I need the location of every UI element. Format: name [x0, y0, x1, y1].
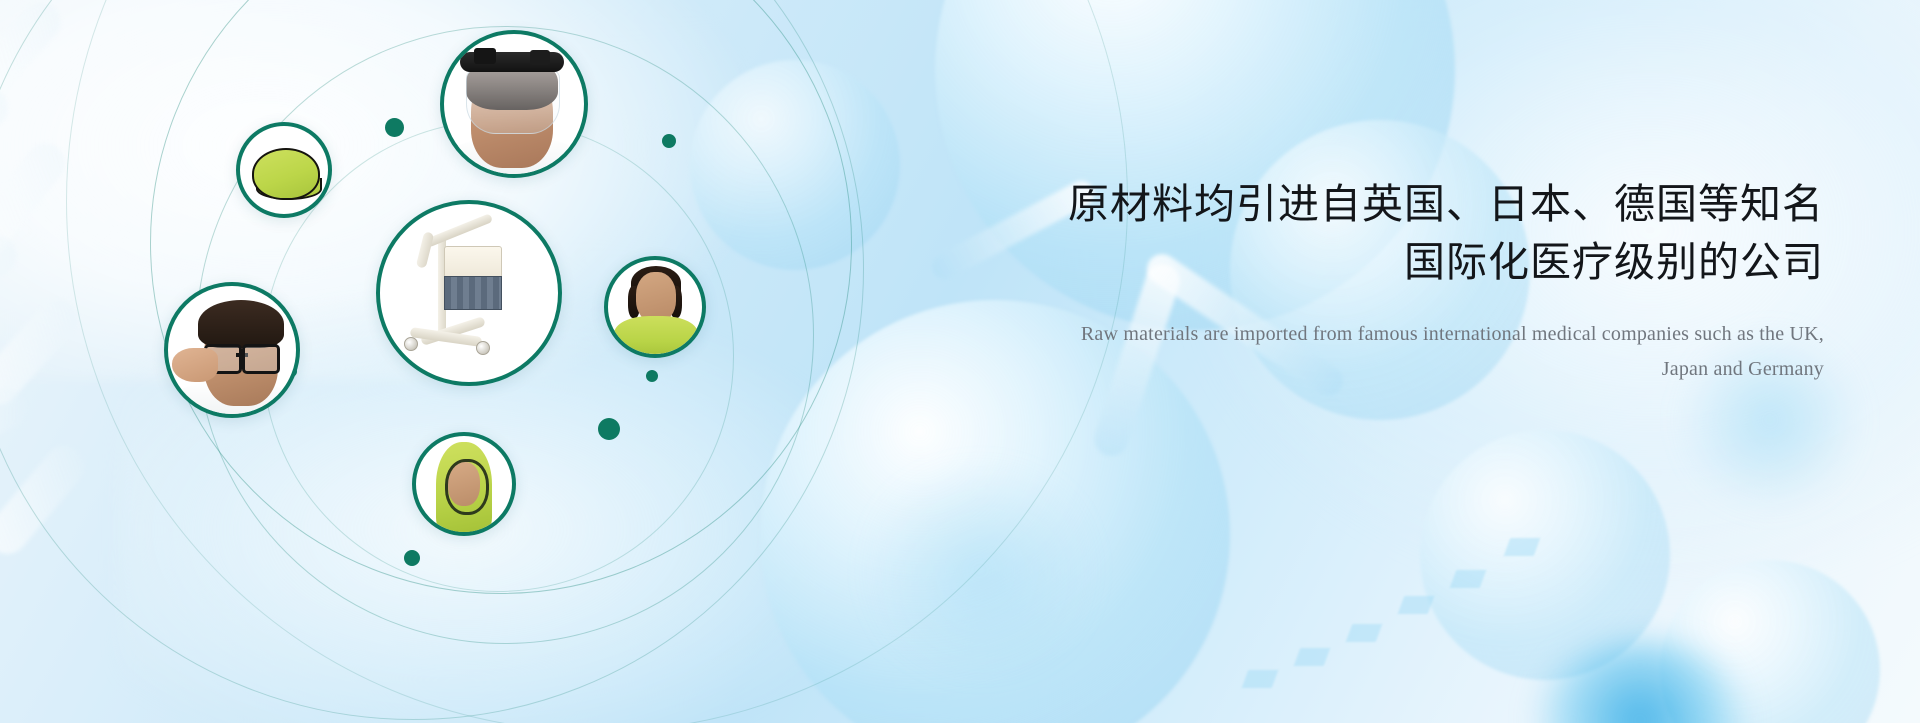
- lead-cap-illustration: [240, 126, 328, 214]
- headline: 原材料均引进自英国、日本、德国等知名 国际化医疗级别的公司: [1064, 175, 1824, 291]
- blue-accent-blob-1: [1530, 640, 1750, 723]
- hero-banner: 原材料均引进自英国、日本、德国等知名 国际化医疗级别的公司 Raw materi…: [0, 0, 1920, 723]
- subtitle-line-1: Raw materials are imported from famous i…: [1081, 323, 1754, 345]
- hero-copy: 原材料均引进自英国、日本、德国等知名 国际化医疗级别的公司 Raw materi…: [1064, 175, 1824, 386]
- molecule-sphere-4: [1420, 430, 1670, 680]
- subtitle: Raw materials are imported from famous i…: [1064, 317, 1824, 386]
- headline-line-1: 原材料均引进自英国、日本、德国等知名: [1068, 181, 1824, 227]
- orbit-dot-2: [662, 134, 676, 148]
- molecule-sphere-5: [690, 60, 900, 270]
- molecule-sphere-6: [1660, 560, 1880, 723]
- orbit-dot-4: [646, 370, 658, 382]
- bubble-man-wearing-lead-glasses[interactable]: [164, 282, 300, 418]
- blue-accent-blob-3: [860, 470, 1100, 670]
- man-head-visor-illustration: [444, 34, 584, 174]
- man-lead-glasses-illustration: [168, 286, 296, 414]
- woman-lead-collar-illustration: [608, 260, 702, 354]
- lead-barrier-stand-illustration: [380, 204, 558, 382]
- orbit-dot-6: [404, 550, 420, 566]
- orbit-dot-5: [598, 418, 620, 440]
- bubble-mobile-lead-barrier-stand[interactable]: [376, 200, 562, 386]
- dashed-trail-graphic: [1245, 520, 1565, 700]
- woman-lead-hood-illustration: [416, 436, 512, 532]
- bubble-woman-wearing-lead-collar[interactable]: [604, 256, 706, 358]
- bubble-man-wearing-head-visor[interactable]: [440, 30, 588, 178]
- headline-line-2: 国际化医疗级别的公司: [1064, 233, 1824, 291]
- orbit-dot-1: [385, 118, 404, 137]
- bubble-woman-wearing-lead-hood[interactable]: [412, 432, 516, 536]
- bubble-lead-protection-cap[interactable]: [236, 122, 332, 218]
